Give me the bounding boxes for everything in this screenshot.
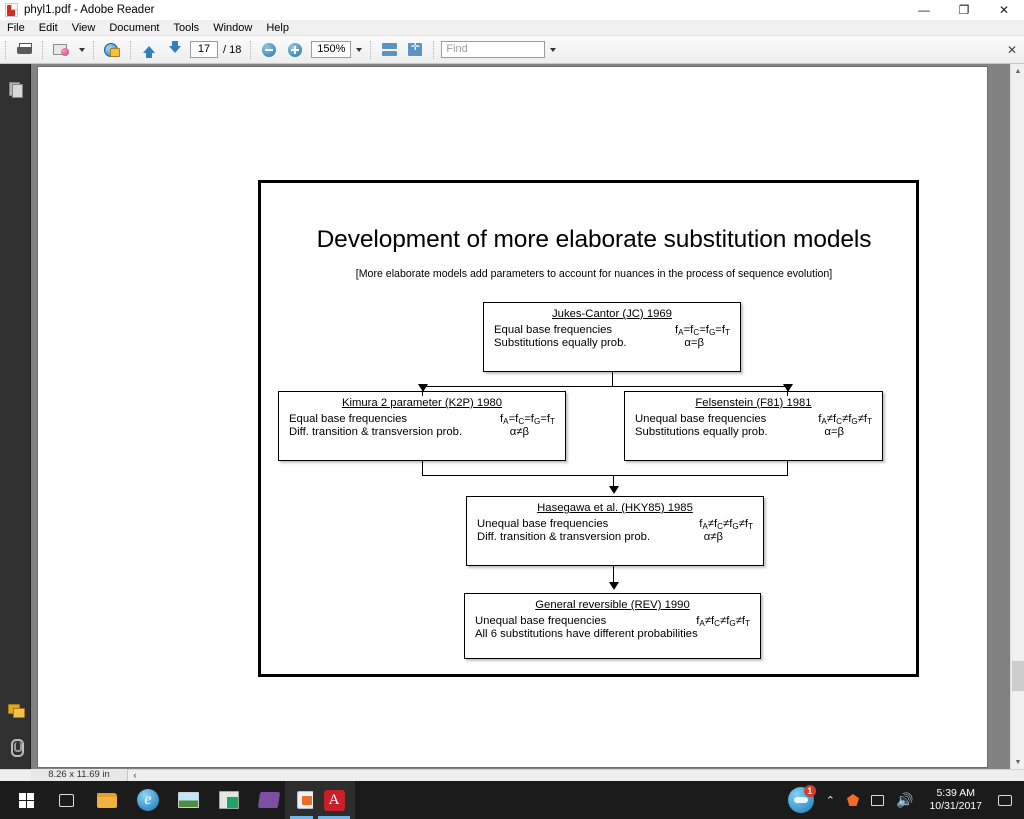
avast-notification-button[interactable]: 1	[788, 787, 814, 813]
zoom-out-button[interactable]	[257, 39, 281, 61]
status-bar	[0, 769, 1024, 781]
box-row-right: α=β	[684, 337, 704, 349]
title-bar: phyl1.pdf - Adobe Reader — ❐ ✕	[0, 0, 1024, 20]
arrow-down-icon	[169, 46, 181, 53]
box-row: Substitutions equally prob. α=β	[635, 426, 872, 438]
pdf-document-icon	[5, 3, 19, 17]
find-dropdown-caret-icon[interactable]	[550, 48, 556, 52]
box-row-left: Diff. transition & transversion prob.	[477, 531, 650, 543]
arrowhead-to-hasegawa	[609, 486, 619, 494]
document-viewport[interactable]: Development of more elaborate substituti…	[31, 64, 1010, 769]
menu-bar: File Edit View Document Tools Window Hel…	[0, 20, 1024, 36]
globe-icon	[104, 43, 120, 57]
window-title: phyl1.pdf - Adobe Reader	[24, 4, 154, 16]
box-row-left: Equal base frequencies	[289, 413, 407, 425]
zoom-level-input[interactable]: 150%	[311, 41, 351, 58]
connector-kimura-down	[422, 461, 423, 475]
box-row-right: fA=fC=fG=fT	[500, 413, 555, 426]
taskbar-file-explorer[interactable]	[86, 781, 128, 819]
close-button[interactable]: ✕	[984, 0, 1024, 20]
find-input[interactable]: Find	[441, 41, 545, 58]
toolbar-divider	[433, 41, 434, 59]
avast-circle-icon: 1	[788, 787, 814, 813]
menu-help[interactable]: Help	[259, 20, 296, 36]
next-page-button[interactable]	[163, 39, 187, 61]
toolbar: 17 / 18 150% Find ✕	[0, 36, 1024, 64]
fit-width-button[interactable]	[377, 39, 401, 61]
box-row-right: α=β	[824, 426, 844, 438]
slide-frame: Development of more elaborate substituti…	[258, 180, 919, 677]
connector-split-bar	[422, 386, 787, 387]
pages-icon	[9, 82, 22, 97]
box-row: Equal base frequencies fA=fC=fG=fT	[494, 324, 730, 337]
notification-count-badge: 1	[804, 785, 816, 797]
toolbar-divider	[5, 41, 6, 59]
menu-edit[interactable]: Edit	[32, 20, 65, 36]
paperclip-icon	[9, 738, 23, 754]
create-pdf-online-button[interactable]	[100, 39, 124, 61]
zoom-in-icon	[288, 43, 302, 57]
menu-document[interactable]: Document	[102, 20, 166, 36]
toolbar-close-button[interactable]: ✕	[1007, 43, 1017, 57]
slide-subtitle: [More elaborate models add parameters to…	[279, 268, 909, 280]
box-title: Felsenstein (F81) 1981	[625, 397, 882, 409]
clock-time: 5:39 AM	[929, 787, 982, 800]
box-row-left: Diff. transition & transversion prob.	[289, 426, 462, 438]
taskbar-internet-explorer[interactable]: e	[127, 781, 169, 819]
arrowhead-to-felsenstein	[783, 384, 793, 392]
toolbar-divider	[42, 41, 43, 59]
vertical-scroll-thumb[interactable]	[1012, 661, 1024, 691]
show-hidden-icons-button[interactable]: ⌃	[826, 794, 835, 807]
status-prev-arrow-icon[interactable]: ‹	[128, 769, 142, 781]
connector-felsenstein-down	[787, 461, 788, 475]
previous-page-button[interactable]	[137, 39, 161, 61]
box-kimura-2-parameter[interactable]: Kimura 2 parameter (K2P) 1980 Equal base…	[278, 391, 566, 461]
box-title: Kimura 2 parameter (K2P) 1980	[279, 397, 565, 409]
box-jukes-cantor[interactable]: Jukes-Cantor (JC) 1969 Equal base freque…	[483, 302, 741, 372]
zoom-in-button[interactable]	[283, 39, 307, 61]
network-icon	[871, 795, 884, 806]
box-row-left: Unequal base frequencies	[475, 615, 606, 627]
navigation-rail	[0, 64, 31, 769]
task-view-button[interactable]	[45, 781, 87, 819]
photos-icon	[178, 792, 199, 808]
toolbar-divider	[250, 41, 251, 59]
box-felsenstein[interactable]: Felsenstein (F81) 1981 Unequal base freq…	[624, 391, 883, 461]
start-button[interactable]	[6, 781, 46, 819]
action-center-button[interactable]	[998, 795, 1012, 806]
arrow-up-icon	[143, 46, 155, 53]
avast-small-icon	[847, 794, 859, 806]
arrowhead-to-general-reversible	[609, 582, 619, 590]
box-title: General reversible (REV) 1990	[465, 599, 760, 611]
onenote-icon	[258, 792, 280, 808]
minimize-button[interactable]: —	[904, 0, 944, 20]
clock[interactable]: 5:39 AM 10/31/2017	[929, 787, 982, 813]
box-row-right: fA≠fC≠fG≠fT	[818, 413, 872, 426]
excel-icon	[219, 791, 239, 809]
vertical-scrollbar[interactable]: ▲ ▼	[1010, 64, 1024, 769]
taskbar: e A 1	[0, 781, 1024, 819]
box-row: Unequal base frequencies fA≠fC≠fG≠fT	[475, 615, 750, 628]
box-row-left: Equal base frequencies	[494, 324, 612, 336]
attachments-button[interactable]	[0, 729, 31, 763]
volume-icon: 🔊	[896, 793, 913, 807]
arrowhead-to-kimura	[418, 384, 428, 392]
windows-logo-icon	[19, 793, 34, 808]
box-row: Equal base frequencies fA=fC=fG=fT	[289, 413, 555, 426]
box-row: Diff. transition & transversion prob. α≠…	[477, 531, 753, 543]
page-size-label: 8.26 x 11.69 in	[31, 769, 128, 781]
box-row-right: fA=fC=fG=fT	[675, 324, 730, 337]
scroll-down-button[interactable]: ▼	[1011, 755, 1024, 769]
box-row: Unequal base frequencies fA≠fC≠fG≠fT	[635, 413, 872, 426]
zoom-dropdown-caret-icon[interactable]	[356, 48, 362, 52]
pdf-icon: A	[324, 790, 345, 811]
taskbar-adobe-reader[interactable]: A	[313, 781, 355, 819]
box-general-reversible[interactable]: General reversible (REV) 1990 Unequal ba…	[464, 593, 761, 659]
fit-page-icon	[408, 43, 422, 56]
box-row-right: fA≠fC≠fG≠fT	[696, 615, 750, 628]
box-row-right: fA≠fC≠fG≠fT	[699, 518, 753, 531]
box-row: Unequal base frequencies fA≠fC≠fG≠fT	[477, 518, 753, 531]
menu-tools[interactable]: Tools	[167, 20, 207, 36]
toolbar-divider	[370, 41, 371, 59]
attach-email-button[interactable]	[49, 39, 73, 61]
box-row-right: α≠β	[704, 531, 723, 543]
box-row-right: α≠β	[510, 426, 529, 438]
menu-file[interactable]: File	[0, 20, 32, 36]
slide-title: Development of more elaborate substituti…	[279, 226, 909, 254]
toolbar-divider	[130, 41, 131, 59]
page-total-label: / 18	[223, 44, 241, 56]
email-dropdown-caret-icon[interactable]	[79, 48, 85, 52]
box-row-left: Unequal base frequencies	[635, 413, 766, 425]
email-icon	[53, 43, 69, 56]
toolbar-divider	[93, 41, 94, 59]
folder-icon	[97, 793, 117, 808]
printer-icon	[17, 43, 32, 56]
connector-merge-bar	[422, 475, 788, 476]
pdf-page: Development of more elaborate substituti…	[38, 67, 987, 767]
box-row: All 6 substitutions have different proba…	[475, 628, 750, 640]
page-number-input[interactable]: 17	[190, 41, 218, 58]
adobe-reader-window: phyl1.pdf - Adobe Reader — ❐ ✕ File Edit…	[0, 0, 1024, 819]
box-title: Jukes-Cantor (JC) 1969	[484, 308, 740, 320]
page-thumbnails-button[interactable]	[0, 72, 31, 106]
taskbar-onenote[interactable]	[248, 781, 290, 819]
network-tray-icon[interactable]	[871, 795, 884, 806]
taskbar-photos[interactable]	[167, 781, 209, 819]
comment-icon	[8, 704, 24, 718]
scroll-up-button[interactable]: ▲	[1011, 64, 1024, 78]
menu-view[interactable]: View	[65, 20, 103, 36]
box-row-left: All 6 substitutions have different proba…	[475, 628, 750, 640]
box-row-left: Substitutions equally prob.	[494, 337, 627, 349]
box-title: Hasegawa et al. (HKY85) 1985	[467, 502, 763, 514]
fit-page-button[interactable]	[403, 39, 427, 61]
volume-tray-icon[interactable]: 🔊	[896, 793, 913, 807]
box-row: Substitutions equally prob. α=β	[494, 337, 730, 349]
menu-window[interactable]: Window	[206, 20, 259, 36]
connector-jc-stem	[612, 372, 613, 387]
antivirus-tray-icon[interactable]	[847, 794, 859, 806]
system-tray: 1 ⌃ 🔊 5:39 AM 10/31/2017	[782, 781, 1024, 819]
comments-button[interactable]	[0, 694, 31, 728]
box-row: Diff. transition & transversion prob. α≠…	[289, 426, 555, 438]
zoom-out-icon	[262, 43, 276, 57]
box-hasegawa-hky85[interactable]: Hasegawa et al. (HKY85) 1985 Unequal bas…	[466, 496, 764, 566]
maximize-button[interactable]: ❐	[944, 0, 984, 20]
clock-date: 10/31/2017	[929, 800, 982, 813]
ie-icon: e	[137, 789, 159, 811]
box-row-left: Substitutions equally prob.	[635, 426, 768, 438]
task-view-icon	[59, 794, 74, 807]
window-controls: — ❐ ✕	[904, 0, 1024, 20]
box-row-left: Unequal base frequencies	[477, 518, 608, 530]
print-button[interactable]	[12, 39, 36, 61]
taskbar-excel[interactable]	[208, 781, 250, 819]
connector-hasegawa-to-rev	[613, 566, 614, 583]
action-center-icon	[998, 795, 1012, 806]
fit-width-icon	[382, 43, 397, 56]
